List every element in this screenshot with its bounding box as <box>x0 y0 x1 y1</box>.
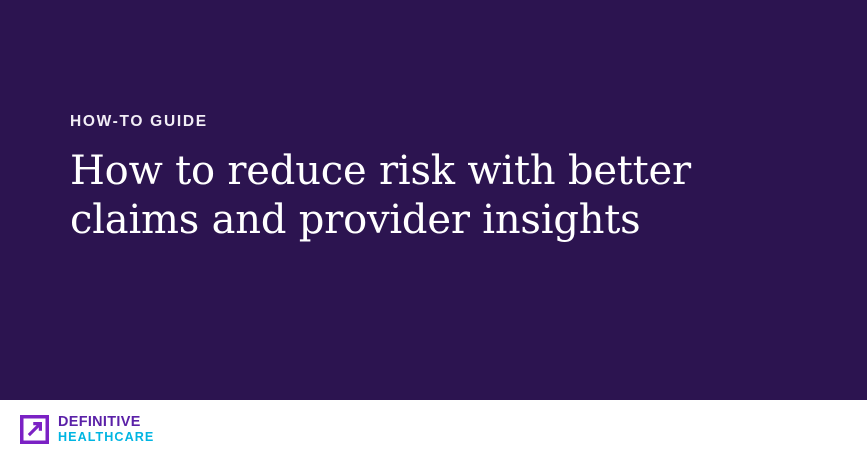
hero-section: HOW-TO GUIDE How to reduce risk with bet… <box>0 0 867 400</box>
arrow-up-right-in-square-icon <box>20 415 49 444</box>
brand-logo: DEFINITIVE HEALTHCARE <box>20 414 154 444</box>
footer-bar: DEFINITIVE HEALTHCARE <box>0 400 867 456</box>
hero-copy-block: HOW-TO GUIDE How to reduce risk with bet… <box>70 114 770 245</box>
eyebrow-label: HOW-TO GUIDE <box>70 114 770 130</box>
brand-word-healthcare: HEALTHCARE <box>58 430 154 444</box>
brand-word-definitive: DEFINITIVE <box>58 415 154 430</box>
brand-wordmark: DEFINITIVE HEALTHCARE <box>58 415 154 444</box>
guide-cover-slide: HOW-TO GUIDE How to reduce risk with bet… <box>0 0 867 456</box>
page-title: How to reduce risk with better claims an… <box>70 147 750 245</box>
